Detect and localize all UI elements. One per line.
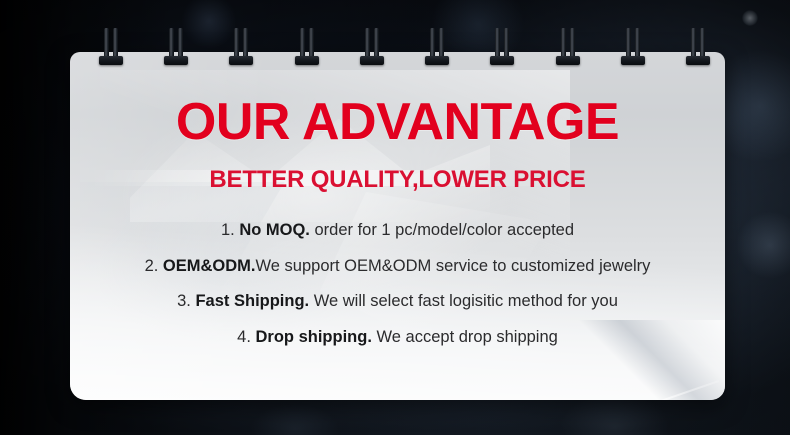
item-term: Fast Shipping. <box>195 292 309 310</box>
page-curl-edge <box>539 380 719 400</box>
item-number: 1. <box>221 221 235 239</box>
item-description: We support OEM&ODM service to customized… <box>256 257 651 275</box>
item-description: We will select fast logisitic method for… <box>309 292 618 310</box>
item-term: No MOQ. <box>239 221 310 239</box>
list-item: 2. OEM&ODM.We support OEM&ODM service to… <box>70 258 725 294</box>
list-item: 4. Drop shipping. We accept drop shippin… <box>70 329 725 365</box>
item-term: OEM&ODM. <box>163 257 256 275</box>
item-term: Drop shipping. <box>256 328 372 346</box>
list-item: 1. No MOQ. order for 1 pc/model/color ac… <box>70 222 725 258</box>
list-item: 3. Fast Shipping. We will select fast lo… <box>70 293 725 329</box>
advantage-list: 1. No MOQ. order for 1 pc/model/color ac… <box>70 192 725 364</box>
page-title: OUR ADVANTAGE <box>70 52 725 148</box>
banner-copy: OUR ADVANTAGE BETTER QUALITY,LOWER PRICE… <box>70 52 725 364</box>
item-description: We accept drop shipping <box>372 328 558 346</box>
item-description: order for 1 pc/model/color accepted <box>310 221 574 239</box>
page-subtitle: BETTER QUALITY,LOWER PRICE <box>70 148 725 192</box>
item-number: 3. <box>177 292 191 310</box>
advantage-banner: OUR ADVANTAGE BETTER QUALITY,LOWER PRICE… <box>0 0 790 435</box>
item-number: 4. <box>237 328 251 346</box>
notepad-page: OUR ADVANTAGE BETTER QUALITY,LOWER PRICE… <box>70 52 725 400</box>
item-number: 2. <box>145 257 159 275</box>
